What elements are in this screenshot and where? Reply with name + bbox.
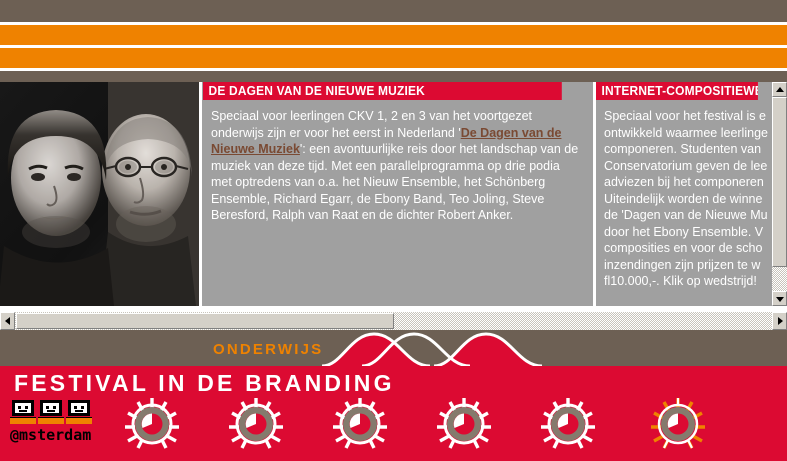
scroll-up-button[interactable] xyxy=(772,82,787,97)
festival-photo xyxy=(0,82,199,306)
panel-side-line: inzendingen zijn prijzen te w xyxy=(604,257,772,274)
triangle-down-icon xyxy=(776,297,784,302)
dial-knob-icon xyxy=(538,396,598,452)
dial-knob-icon xyxy=(226,396,286,452)
panel-side-line: fl10.000,-. Klik op wedstrijd! xyxy=(604,273,772,290)
knob-5[interactable] xyxy=(538,396,598,452)
panel-side-heading: INTERNET-COMPOSITIEWEDSTRIJD xyxy=(596,82,758,100)
amsterdam-logo-icon: @msterdam xyxy=(10,398,110,448)
knob-3[interactable] xyxy=(330,396,390,452)
vertical-scrollbar[interactable] xyxy=(772,82,787,306)
festival-banner: FESTIVAL IN DE BRANDING xyxy=(0,366,787,461)
dial-knob-icon xyxy=(434,396,494,452)
header-stripe-brown-bottom xyxy=(0,71,787,82)
panel-main-heading: DE DAGEN VAN DE NIEUWE MUZIEK xyxy=(203,82,562,100)
panel-side-line: de 'Dagen van de Nieuwe Mu xyxy=(604,207,772,224)
triangle-left-icon xyxy=(5,317,10,325)
wave-curves-graphic xyxy=(322,330,552,366)
panel-main-body: Speciaal voor leerlingen CKV 1, 2 en 3 v… xyxy=(203,100,589,224)
panel-dagen-nieuwe-muziek: DE DAGEN VAN DE NIEUWE MUZIEK Speciaal v… xyxy=(203,82,593,224)
knob-6[interactable] xyxy=(648,396,708,452)
onderwijs-label: ONDERWIJS xyxy=(213,341,323,358)
header-stripe-brown-top xyxy=(0,0,787,22)
panel-side-line: ontwikkeld waarmee leerlinge xyxy=(604,125,772,142)
panel-side-line: composities en voor de scho xyxy=(604,240,772,257)
header-stripe-orange-1[interactable] xyxy=(0,25,787,45)
panel-side-line: adviezen bij het componeren xyxy=(604,174,772,191)
panel-side-line: Uiteindelijk worden de winne xyxy=(604,191,772,208)
panel-internet-compositiewedstrijd: INTERNET-COMPOSITIEWEDSTRIJD Speciaal vo… xyxy=(596,82,772,290)
panel-side-line: Conservatorium geven de lee xyxy=(604,158,772,175)
knob-4[interactable] xyxy=(434,396,494,452)
scroll-right-button[interactable] xyxy=(772,312,787,330)
triangle-right-icon xyxy=(778,317,783,325)
panel-side-body: Speciaal voor het festival is e ontwikke… xyxy=(596,100,772,290)
scroll-left-button[interactable] xyxy=(0,312,15,330)
triangle-up-icon xyxy=(776,87,784,92)
festival-title: FESTIVAL IN DE BRANDING xyxy=(14,370,395,397)
photo-image xyxy=(0,82,199,306)
content-area: DE DAGEN VAN DE NIEUWE MUZIEK Speciaal v… xyxy=(0,82,787,306)
panel-side-line: door het Ebony Ensemble. V xyxy=(604,224,772,241)
header-stripe-orange-2[interactable] xyxy=(0,48,787,68)
dial-knob-icon xyxy=(122,396,182,452)
panel-divider-left xyxy=(199,82,202,306)
horizontal-scrollbar-thumb[interactable] xyxy=(16,313,394,329)
scroll-down-button[interactable] xyxy=(772,291,787,306)
vertical-scrollbar-thumb[interactable] xyxy=(772,97,787,267)
panel-side-line: componeren. Studenten van xyxy=(604,141,772,158)
dial-knob-icon xyxy=(330,396,390,452)
page-root: DE DAGEN VAN DE NIEUWE MUZIEK Speciaal v… xyxy=(0,0,787,461)
panel-side-line: Speciaal voor het festival is e xyxy=(604,108,772,125)
knob-2[interactable] xyxy=(226,396,286,452)
amsterdam-logo-text: @msterdam xyxy=(10,426,91,444)
horizontal-scrollbar[interactable] xyxy=(0,312,787,330)
onderwijs-band: ONDERWIJS xyxy=(0,330,787,366)
amsterdam-logo[interactable]: @msterdam xyxy=(10,398,110,448)
dial-knob-active-icon xyxy=(648,396,708,452)
knob-1[interactable] xyxy=(122,396,182,452)
